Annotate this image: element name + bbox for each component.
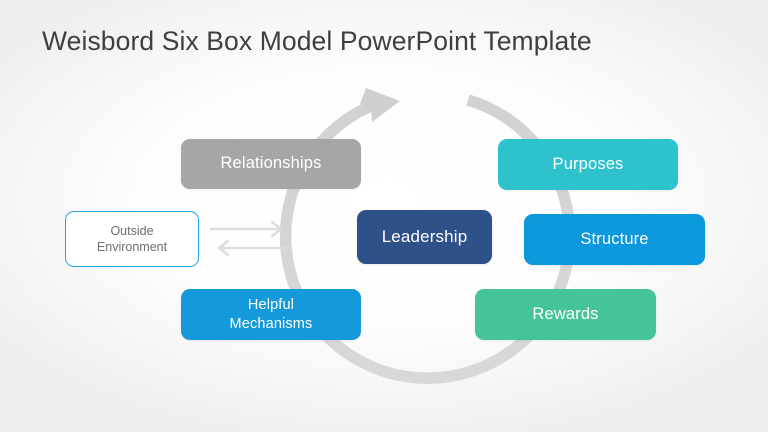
- box-purposes[interactable]: Purposes: [498, 139, 678, 190]
- box-rewards-label: Rewards: [532, 305, 598, 324]
- box-purposes-label: Purposes: [553, 155, 624, 174]
- arrow-right-icon: [210, 222, 281, 236]
- box-leadership[interactable]: Leadership: [357, 210, 492, 264]
- box-outside-environment-label: Outside Environment: [97, 223, 167, 256]
- box-rewards[interactable]: Rewards: [475, 289, 656, 340]
- box-structure[interactable]: Structure: [524, 214, 705, 265]
- arrow-left-icon: [219, 241, 290, 255]
- box-relationships[interactable]: Relationships: [181, 139, 361, 189]
- box-helpful-mechanisms-label: Helpful Mechanisms: [230, 296, 313, 333]
- box-helpful-mechanisms[interactable]: Helpful Mechanisms: [181, 289, 361, 340]
- page-title: Weisbord Six Box Model PowerPoint Templa…: [42, 26, 592, 57]
- box-outside-environment[interactable]: Outside Environment: [65, 211, 199, 267]
- slide-canvas: Weisbord Six Box Model PowerPoint Templa…: [0, 0, 768, 432]
- exchange-arrows: [208, 212, 294, 266]
- box-structure-label: Structure: [580, 230, 648, 249]
- box-relationships-label: Relationships: [220, 154, 321, 173]
- box-leadership-label: Leadership: [382, 227, 468, 247]
